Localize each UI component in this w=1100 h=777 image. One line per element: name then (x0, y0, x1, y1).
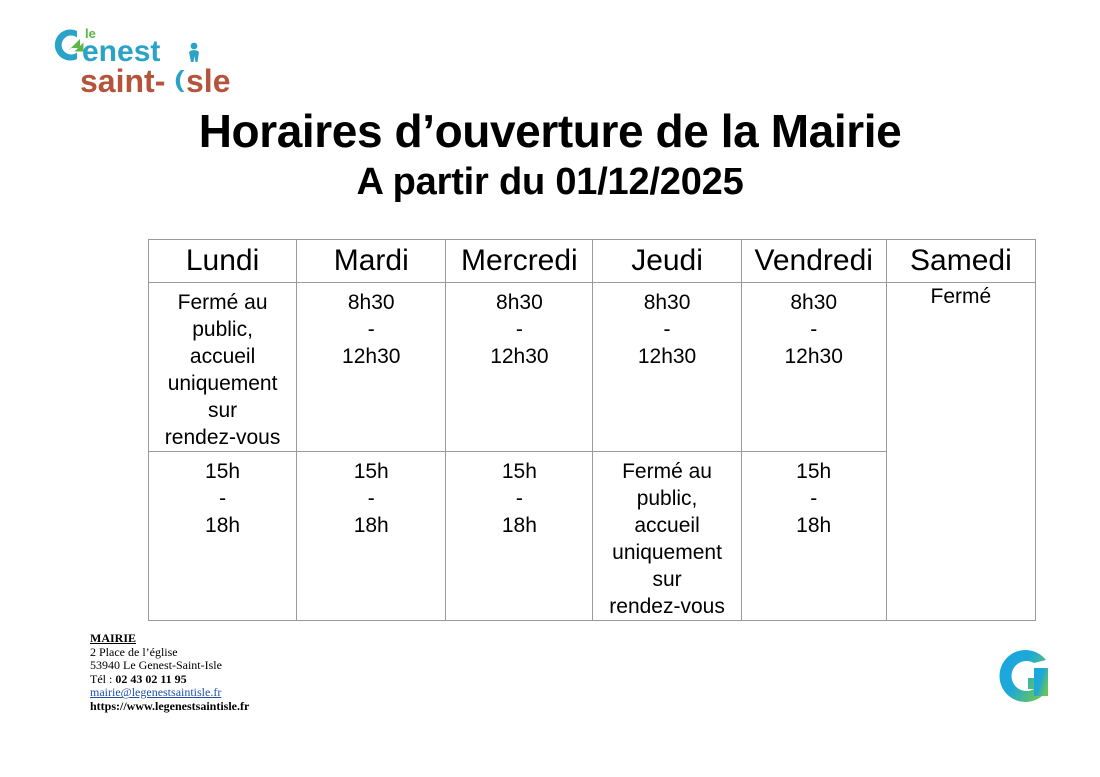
column-header-samedi: Samedi (886, 240, 1035, 283)
footer-g-mark-icon (990, 638, 1066, 714)
cell-samedi: Fermé (886, 283, 1035, 621)
cell-mardi-morning: 8h30 - 12h30 (297, 283, 446, 452)
cell-mardi-morning-text: 8h30 - 12h30 (297, 283, 445, 370)
cell-jeudi-afternoon: Fermé au public, accueil uniquement sur … (593, 452, 741, 621)
footer-phone-line: Tél : 02 43 02 11 95 (90, 673, 249, 687)
page-title: Horaires d’ouverture de la Mairie (0, 104, 1100, 158)
cell-jeudi-afternoon-text: Fermé au public, accueil uniquement sur … (593, 452, 740, 620)
page-subtitle: A partir du 01/12/2025 (0, 160, 1100, 204)
cell-vendredi-afternoon-text: 15h - 18h (742, 452, 886, 539)
cell-mercredi-morning: 8h30 - 12h30 (446, 283, 593, 452)
logo-g-ring (55, 30, 77, 61)
opening-hours-table: Lundi Mardi Mercredi Jeudi Vendredi Same… (148, 239, 1036, 621)
footer-phone-number: 02 43 02 11 95 (115, 672, 186, 686)
cell-mardi-afternoon: 15h - 18h (297, 452, 446, 621)
logo-person-head-icon (191, 43, 198, 50)
logo-word-saint: saint- (80, 63, 165, 96)
cell-lundi-afternoon: 15h - 18h (149, 452, 297, 621)
column-header-vendredi: Vendredi (741, 240, 886, 283)
cell-mercredi-afternoon: 15h - 18h (446, 452, 593, 621)
footer-email-link[interactable]: mairie@legenestsaintisle.fr (90, 686, 249, 700)
cell-samedi-text: Fermé (887, 283, 1035, 310)
table-header-row: Lundi Mardi Mercredi Jeudi Vendredi Same… (149, 240, 1036, 283)
footer-address-line-2: 53940 Le Genest-Saint-Isle (90, 659, 249, 673)
logo-isle-bracket-icon (176, 70, 185, 92)
footer-website-url[interactable]: https://www.legenestsaintisle.fr (90, 700, 249, 714)
footer-contact-block: MAIRIE 2 Place de l’église 53940 Le Gene… (90, 632, 249, 714)
document-header: Horaires d’ouverture de la Mairie A part… (0, 104, 1100, 204)
logo-person-body-icon (189, 50, 199, 62)
cell-mercredi-morning-text: 8h30 - 12h30 (446, 283, 592, 370)
cell-jeudi-morning-text: 8h30 - 12h30 (593, 283, 740, 370)
cell-mercredi-afternoon-text: 15h - 18h (446, 452, 592, 539)
column-header-mardi: Mardi (297, 240, 446, 283)
cell-vendredi-afternoon: 15h - 18h (741, 452, 886, 621)
brand-logo: le enest saint- sle (46, 18, 276, 96)
cell-vendredi-morning-text: 8h30 - 12h30 (742, 283, 886, 370)
cell-lundi-morning-text: Fermé au public, accueil uniquement sur … (149, 283, 296, 451)
column-header-jeudi: Jeudi (593, 240, 741, 283)
cell-lundi-afternoon-text: 15h - 18h (149, 452, 296, 539)
logo-word-isle: sle (186, 63, 230, 96)
column-header-mercredi: Mercredi (446, 240, 593, 283)
cell-lundi-morning: Fermé au public, accueil uniquement sur … (149, 283, 297, 452)
footer-address-line-1: 2 Place de l’église (90, 646, 249, 660)
cell-jeudi-morning: 8h30 - 12h30 (593, 283, 741, 452)
footer-phone-label: Tél : (90, 672, 115, 686)
footer-g-stem (1034, 668, 1048, 696)
brand-logo-graphic: le enest saint- sle (46, 18, 276, 96)
footer-g-mark (990, 638, 1066, 714)
cell-vendredi-morning: 8h30 - 12h30 (741, 283, 886, 452)
table-row-morning: Fermé au public, accueil uniquement sur … (149, 283, 1036, 452)
footer-org-name: MAIRIE (90, 632, 249, 646)
cell-mardi-afternoon-text: 15h - 18h (297, 452, 445, 539)
column-header-lundi: Lundi (149, 240, 297, 283)
